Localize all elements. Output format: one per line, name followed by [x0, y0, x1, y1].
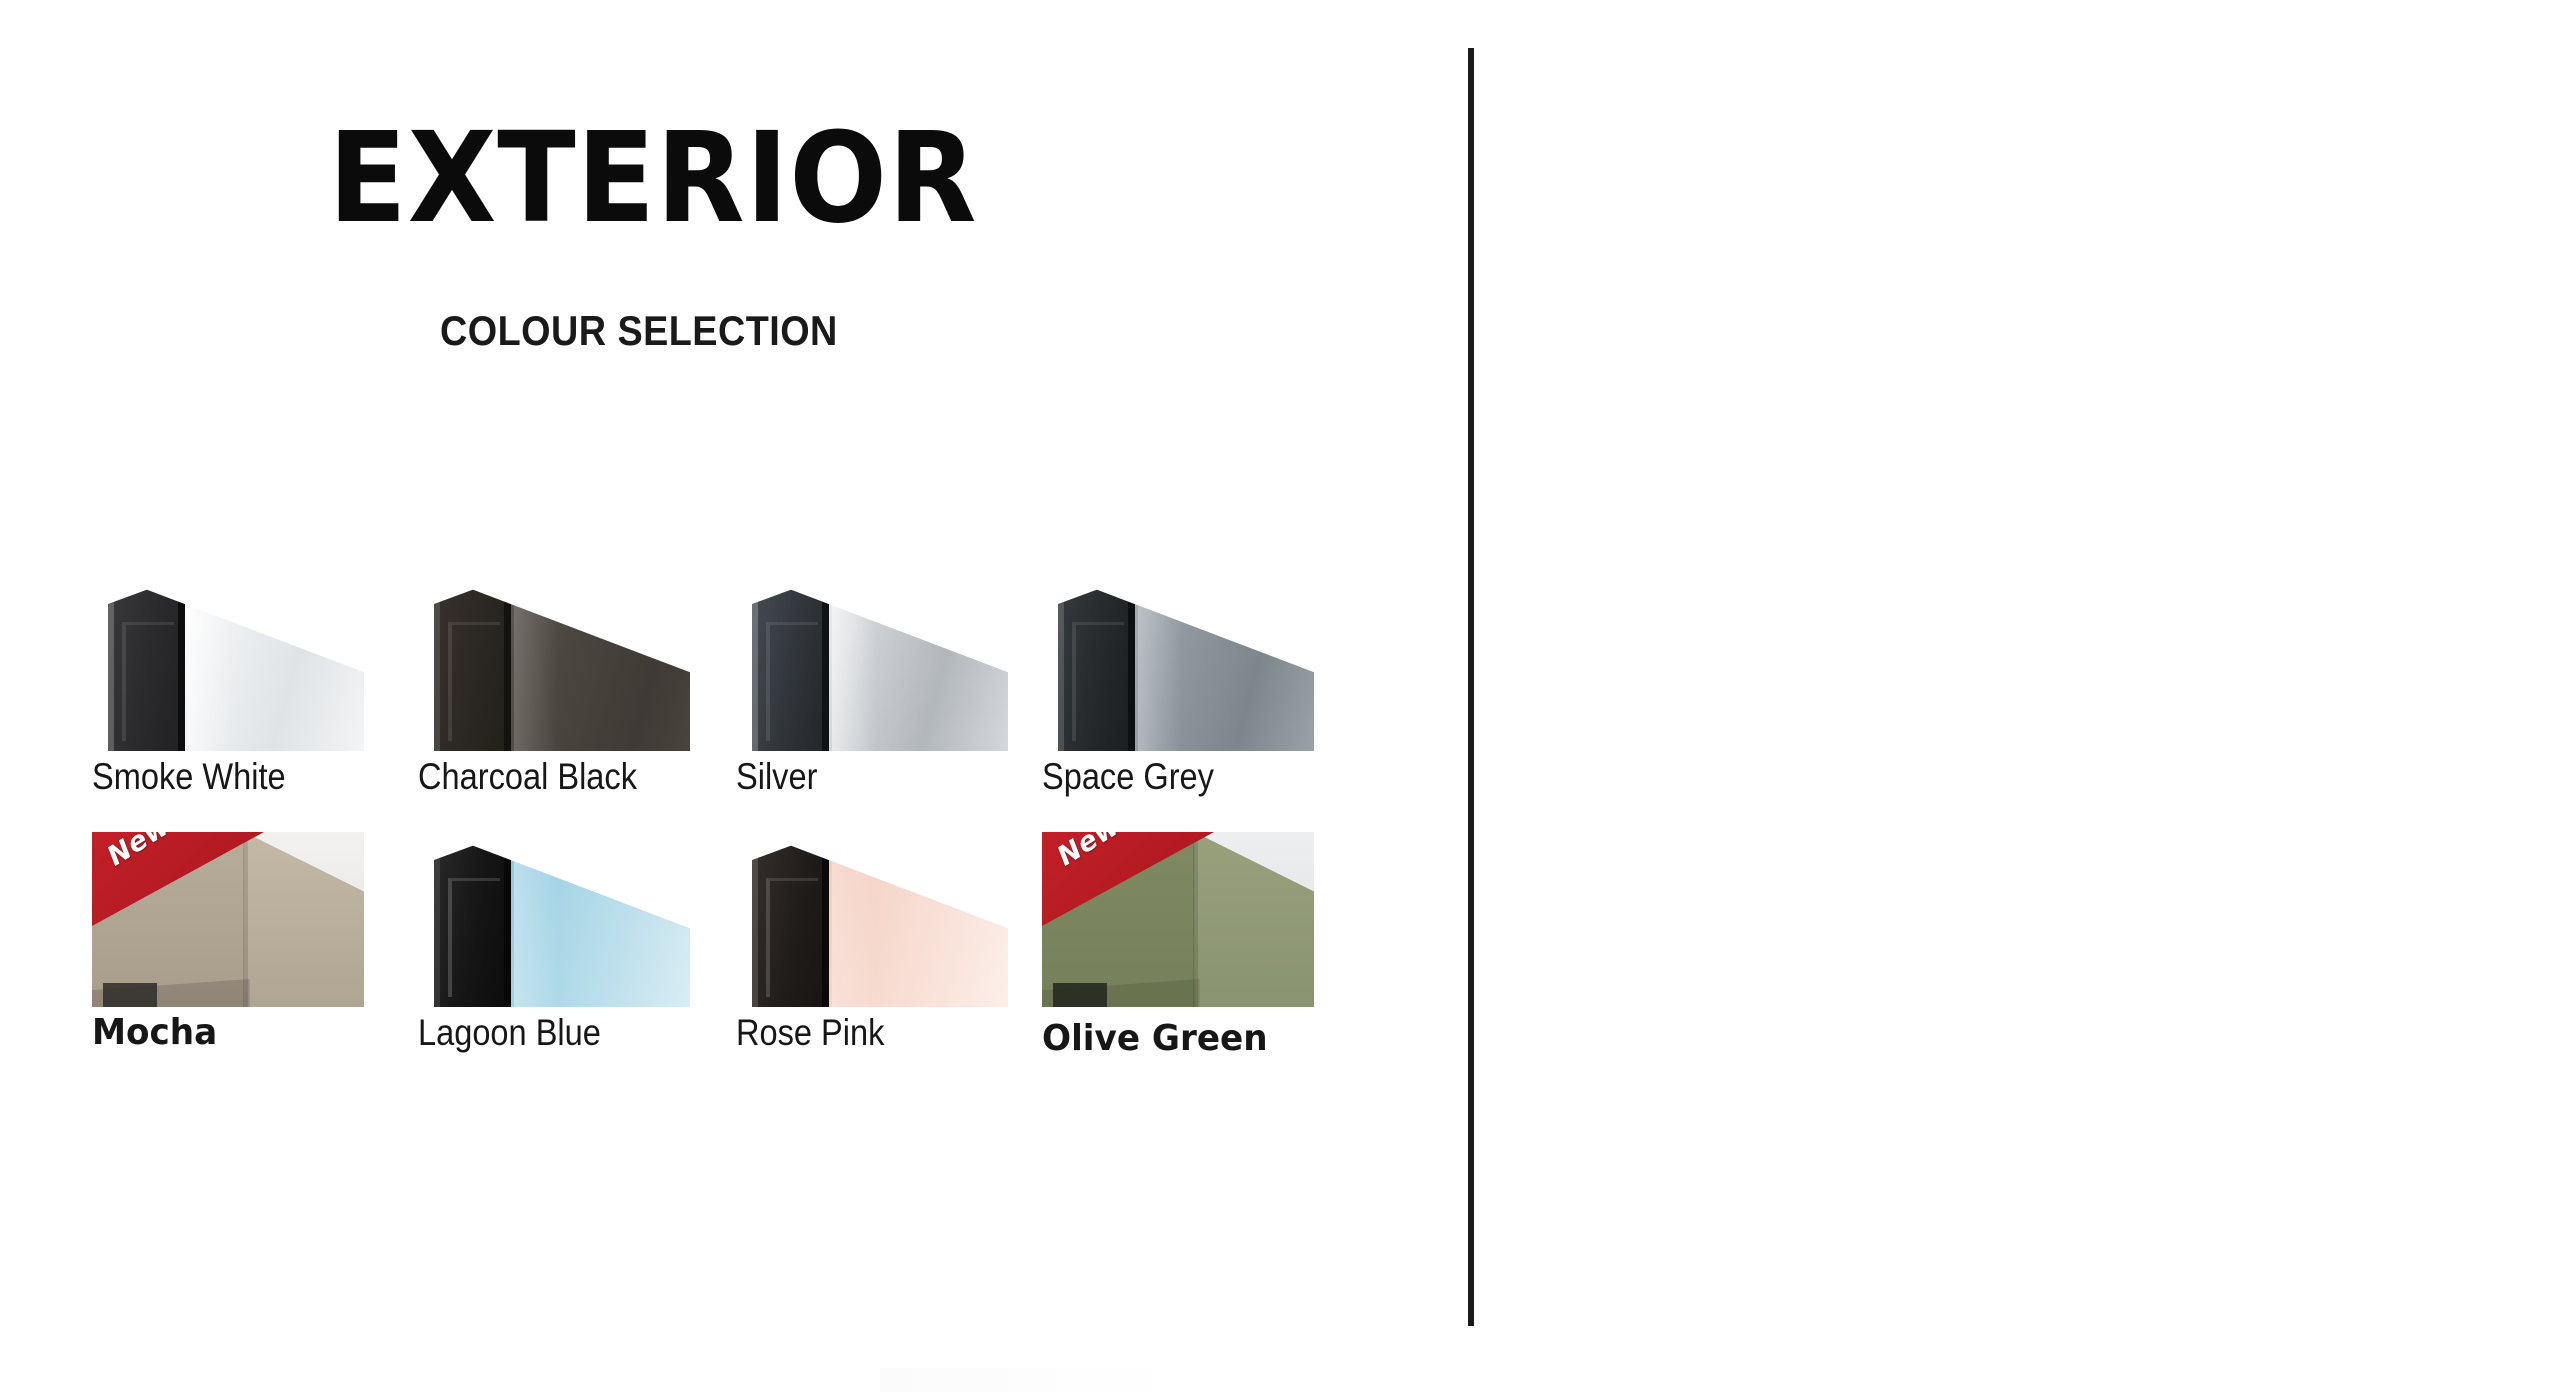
swatch-label: Charcoal Black [418, 756, 637, 798]
swatch-label: Silver [736, 756, 817, 798]
colour-selection-board: EXTERIOR COLOUR SELECTION Smoke Whi [0, 0, 2560, 1392]
swatch-charcoal-black[interactable]: Charcoal Black [418, 576, 690, 751]
swatch-rose-pink[interactable]: Rose Pink [736, 832, 1008, 1007]
swatch-label: Mocha [92, 1012, 217, 1053]
exterior-panel: EXTERIOR COLOUR SELECTION Smoke Whi [0, 0, 1468, 1392]
swatch-mocha[interactable]: New Mocha [92, 832, 364, 1007]
pod-image-rose-pink [736, 832, 1008, 1007]
pod-image-mocha: New [92, 832, 364, 1007]
pod-image-silver [736, 576, 1008, 751]
swatch-label: Smoke White [92, 756, 286, 798]
swatch-lagoon-blue[interactable]: Lagoon Blue [418, 832, 690, 1007]
swatch-space-grey[interactable]: Space Grey [1042, 576, 1314, 751]
page-footer-clipped [880, 1368, 1180, 1392]
pod-image-smoke-white [92, 576, 364, 751]
swatch-silver[interactable]: Silver [736, 576, 1008, 751]
pod-image-lagoon-blue [418, 832, 690, 1007]
pod-image-charcoal-black [418, 576, 690, 751]
swatch-label: Lagoon Blue [418, 1012, 601, 1054]
pod-image-space-grey [1042, 576, 1314, 751]
swatch-label: Olive Green [1042, 1018, 1268, 1059]
exterior-subtitle: COLOUR SELECTION [440, 307, 838, 355]
swatch-label: Space Grey [1042, 756, 1214, 798]
swatch-olive-green[interactable]: New Olive Green [1042, 832, 1314, 1007]
exterior-title: EXTERIOR [328, 116, 977, 241]
pod-image-olive-green: New [1042, 832, 1314, 1007]
interior-panel: INTERIOR ACOUSTIC SHEET COLOUR SELECTION… [1474, 0, 2560, 1392]
swatch-label: Rose Pink [736, 1012, 884, 1054]
swatch-smoke-white[interactable]: Smoke White [92, 576, 364, 751]
